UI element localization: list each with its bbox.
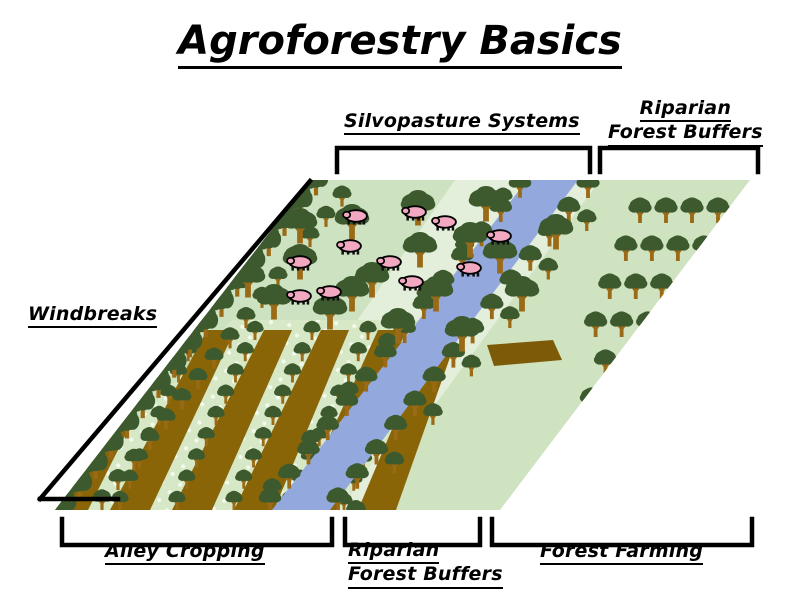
label-alley-cropping: Alley Cropping [105, 540, 265, 565]
bracket-silvopasture [337, 148, 590, 172]
diagram-canvas: Agroforestry Basics [0, 0, 800, 600]
label-windbreaks: Windbreaks [28, 303, 157, 328]
label-riparian-bottom: Riparian Forest Buffers [348, 540, 503, 589]
bracket-windbreaks-diagonal [40, 181, 310, 499]
bracket-annotations [0, 0, 800, 600]
label-forest-farming: Forest Farming [540, 540, 703, 565]
label-riparian-top: Riparian Forest Buffers [608, 98, 763, 147]
bracket-riparian-top [600, 148, 758, 172]
label-silvopasture: Silvopasture Systems [344, 110, 580, 135]
